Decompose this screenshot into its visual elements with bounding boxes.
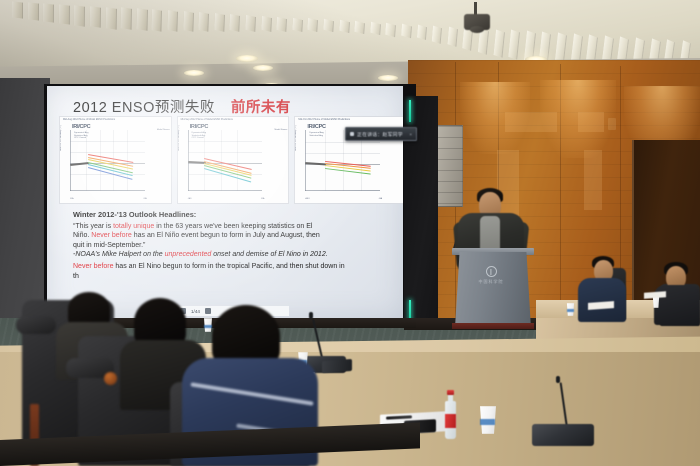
x-tick: ASO (305, 198, 309, 200)
institute-emblem-icon (486, 266, 497, 277)
cup-band (480, 419, 495, 425)
lectern-podium: 中国科学院 (455, 252, 531, 328)
speaker-overlay-banner[interactable]: 正在讲话：赵军同学 × (345, 127, 417, 141)
chart-caption: Mid-Oct 2012 Plume of Model ENSO Predict… (298, 118, 350, 121)
enso-plume-chart: Mid-Sep 2012 Plume of Model ENSO Predict… (177, 116, 290, 204)
text-pre: th (73, 273, 79, 280)
menu-icon[interactable] (205, 308, 211, 314)
microphone-capsule (556, 376, 560, 383)
left-dark-wall (0, 78, 50, 338)
chart-model-list: Model Names (157, 129, 170, 132)
slide-secondary-text: Never before has an El Nino begun to for… (73, 262, 393, 281)
chart-y-label: NINO3.4 SST Anomaly (°C) (178, 125, 180, 151)
chart-caption: Mid-Sep 2012 Plume of Model ENSO Predict… (181, 118, 233, 121)
podium-emblem: 中国科学院 (467, 266, 515, 285)
slide-title: 2012 ENSO预测失败前所未有 (73, 96, 291, 117)
chart-x-labels: JAS JJA (188, 198, 265, 200)
gridline (70, 141, 145, 142)
slide-attribution-line: -NOAA's Mike Halpert on the unprecedente… (73, 250, 391, 260)
downlight-icon (378, 75, 398, 81)
projected-slide: 2012 ENSO预测失败前所未有 Mid-Aug 2012 Plume of … (47, 86, 403, 318)
tablet-device (322, 359, 352, 373)
bottle-cap (447, 390, 454, 395)
wall-panel-lighter (505, 112, 557, 132)
slide-title-highlight: 前所未有 (231, 100, 291, 116)
x-axis (188, 190, 263, 191)
wood-seam (455, 62, 456, 358)
text-highlight: Never before (91, 232, 131, 239)
wall-plate (608, 118, 616, 130)
chart-caption: Mid-Aug 2012 Plume of Model ENSO Predict… (63, 118, 115, 121)
gridline (237, 130, 238, 191)
podium-base (452, 323, 534, 329)
close-icon[interactable]: × (409, 132, 412, 137)
slide-quote-line: “This year is totally unique in the 63 y… (73, 222, 391, 232)
gridline (343, 130, 344, 191)
podium-emblem-text: 中国科学院 (467, 279, 515, 285)
slide-title-main: 2012 ENSO预测失败 (73, 100, 215, 116)
speaker-icon (350, 132, 354, 136)
text-post: has an El Niño event begun to form in Ju… (132, 232, 320, 239)
slide-quote-line: quit in mid-September.” (73, 241, 391, 251)
text-pre: quit in mid-September.” (73, 242, 145, 249)
x-tick: JJA (379, 198, 382, 200)
gridline (70, 152, 145, 153)
chart-x-labels: JJA JJA (70, 198, 147, 200)
projector-lens-icon (470, 26, 484, 33)
audience-torso (578, 278, 626, 322)
text-highlight: unprecedented (165, 251, 212, 258)
led-strip-light (409, 100, 411, 122)
chart-plot-area (188, 130, 263, 191)
slide-page-indicator: 1/44 (191, 309, 200, 314)
enso-plume-chart: Mid-Aug 2012 Plume of Model ENSO Predict… (59, 116, 172, 204)
conference-room-scene: 2012 ENSO预测失败前所未有 Mid-Aug 2012 Plume of … (0, 0, 700, 466)
wall-panel-lighter (578, 112, 604, 132)
chart-y-label: NINO3.4 SST Anomaly (°C) (295, 125, 297, 151)
cup-band (204, 325, 212, 328)
slide-secondary-line: th (73, 272, 393, 282)
slide-secondary-line: Never before has an El Nino begun to for… (73, 262, 393, 272)
y-axis (305, 130, 306, 191)
slide-body-text: Winter 2012-'13 Outlook Headlines: “This… (73, 210, 391, 260)
text-pre: -NOAA's Mike Halpert on the (73, 251, 165, 258)
text-pre: “This year is (73, 223, 113, 230)
chart-plot-area (70, 130, 145, 191)
chart-x-labels: ASO JJA (305, 198, 382, 200)
audience-hair (134, 298, 186, 346)
gridline (86, 130, 87, 191)
text-post: in the 63 years we've been keeping stati… (154, 223, 312, 230)
speaker-overlay-text: 正在讲话：赵军同学 (357, 131, 403, 138)
microphone-capsule (309, 312, 313, 319)
chair-knob (104, 372, 117, 385)
gridline (70, 174, 145, 175)
wall-speaker (437, 125, 463, 207)
cup-band (567, 309, 574, 312)
chart-y-label: NINO3.4 SST Anomaly (°C) (60, 125, 62, 151)
text-post: onset and demise of El Nino in 2012. (211, 251, 327, 258)
gridline (188, 152, 263, 153)
x-tick: JJA (143, 198, 146, 200)
text-highlight: totally unique (113, 223, 154, 230)
downlight-icon (236, 55, 258, 62)
y-axis (70, 130, 71, 191)
gridline (113, 130, 114, 191)
x-tick: JJA (70, 198, 73, 200)
chart-model-list: Model Names (275, 129, 288, 132)
downlight-icon (184, 70, 204, 76)
x-tick: JAS (188, 198, 192, 200)
wall-panel-lighter (584, 150, 602, 210)
x-axis (70, 190, 145, 191)
slide-quote-line: Niño. Never before has an El Niño event … (73, 231, 391, 241)
gridline (221, 130, 222, 191)
slide-headline: Winter 2012-'13 Outlook Headlines: (73, 210, 391, 219)
text-highlight: Never before (73, 263, 113, 270)
gridline (188, 141, 263, 142)
downlight-icon (253, 65, 273, 71)
chair-armrest (16, 316, 56, 334)
text-pre: Niño. (73, 232, 91, 239)
x-tick: JJA (261, 198, 264, 200)
text-post: has an El Nino begun to form in the trop… (113, 263, 344, 270)
bottle-label (445, 414, 456, 428)
conference-microphone (532, 424, 594, 446)
